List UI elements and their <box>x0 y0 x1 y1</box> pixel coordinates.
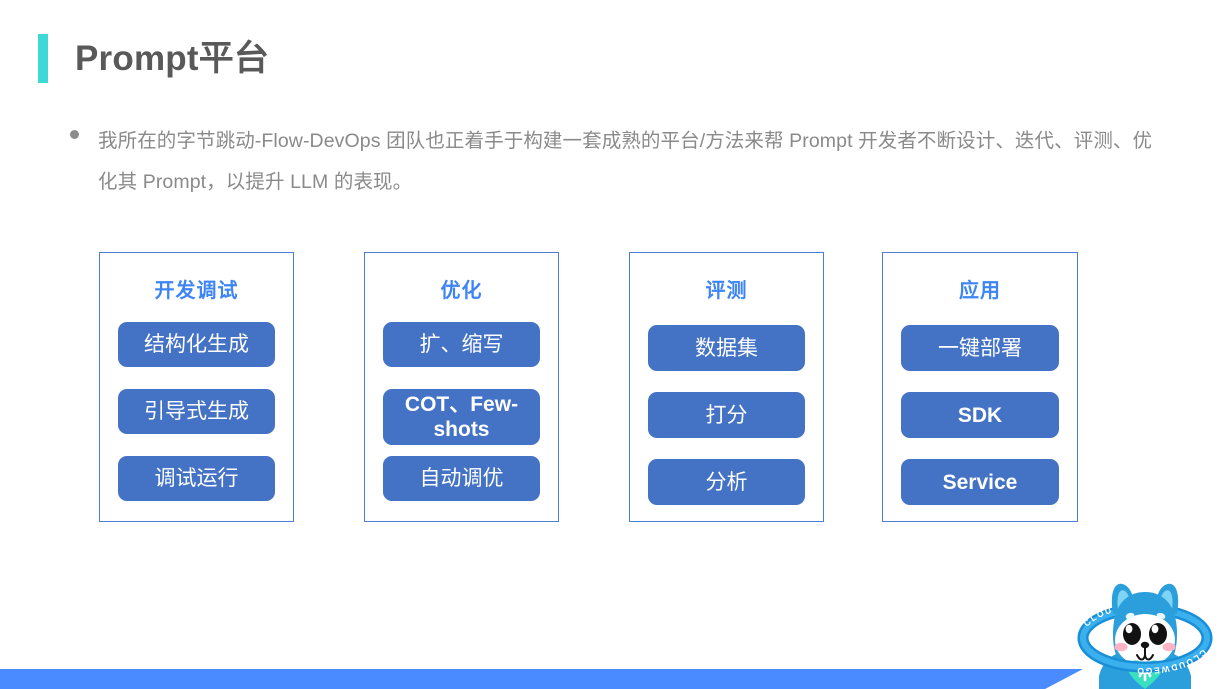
page-title: Prompt平台 <box>75 41 269 76</box>
card-item-pill[interactable]: 扩、缩写 <box>383 322 540 367</box>
bullet-paragraph: 我所在的字节跳动-Flow-DevOps 团队也正着手于构建一套成熟的平台/方法… <box>70 121 1170 203</box>
card-evaluation[interactable]: 评测 数据集 打分 分析 <box>629 252 824 522</box>
cloudwego-mascot-logo: CLOUDWEGO CLOUDWEGO <box>1069 572 1221 689</box>
card-item-list: 扩、缩写 COT、Few-shots 自动调优 <box>383 322 540 501</box>
card-item-pill[interactable]: 数据集 <box>648 325 805 371</box>
card-item-pill[interactable]: 自动调优 <box>383 456 540 501</box>
card-optimization[interactable]: 优化 扩、缩写 COT、Few-shots 自动调优 <box>364 252 559 522</box>
bullet-text: 我所在的字节跳动-Flow-DevOps 团队也正着手于构建一套成熟的平台/方法… <box>98 121 1163 203</box>
card-item-list: 数据集 打分 分析 <box>648 325 805 526</box>
card-application[interactable]: 应用 一键部署 SDK Service <box>882 252 1078 522</box>
title-accent-bar <box>38 34 48 83</box>
card-item-pill[interactable]: 结构化生成 <box>118 322 275 367</box>
card-heading: 应用 <box>883 274 1077 303</box>
card-item-pill[interactable]: 引导式生成 <box>118 389 275 434</box>
card-item-pill[interactable]: 打分 <box>648 392 805 438</box>
card-heading: 评测 <box>630 274 823 303</box>
card-development-debug[interactable]: 开发调试 结构化生成 引导式生成 调试运行 <box>99 252 294 522</box>
card-item-pill[interactable]: 一键部署 <box>901 325 1059 371</box>
card-item-pill[interactable]: Service <box>901 459 1059 505</box>
slide-header: Prompt平台 <box>38 34 269 83</box>
bullet-dot-icon <box>70 130 79 139</box>
card-item-pill[interactable]: 分析 <box>648 459 805 505</box>
card-item-pill[interactable]: COT、Few-shots <box>383 389 540 445</box>
card-heading: 优化 <box>365 274 558 303</box>
card-heading: 开发调试 <box>100 274 293 303</box>
card-item-list: 一键部署 SDK Service <box>901 325 1059 526</box>
card-item-list: 结构化生成 引导式生成 调试运行 <box>118 322 275 501</box>
card-item-pill[interactable]: SDK <box>901 392 1059 438</box>
card-item-pill[interactable]: 调试运行 <box>118 456 275 501</box>
footer-accent-bar <box>0 669 1083 689</box>
